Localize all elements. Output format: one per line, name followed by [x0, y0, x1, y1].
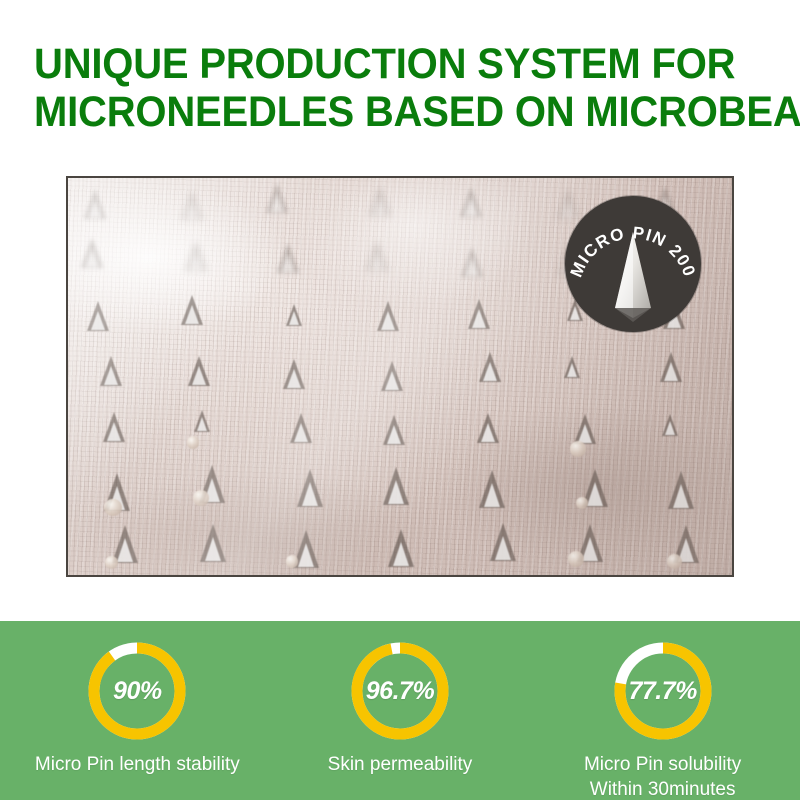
- stats-bar: 90%Micro Pin length stability96.7%Skin p…: [0, 621, 800, 800]
- badge-graphic: MICRO PIN 200: [565, 196, 701, 332]
- donut-value-text: 90%: [85, 639, 189, 743]
- donut-gauge: 90%: [85, 639, 189, 743]
- page-title: UNIQUE PRODUCTION SYSTEM FOR MICRONEEDLE…: [0, 40, 800, 136]
- stat-item: 77.7%Micro Pin solubility Within 30minut…: [535, 621, 791, 800]
- infographic-page: UNIQUE PRODUCTION SYSTEM FOR MICRONEEDLE…: [0, 0, 800, 800]
- donut-gauge: 96.7%: [348, 639, 452, 743]
- stat-label: Micro Pin solubility Within 30minutes: [584, 752, 741, 800]
- donut-gauge: 77.7%: [611, 639, 715, 743]
- micro-pin-badge: MICRO PIN 200: [565, 196, 701, 332]
- title-line-1: UNIQUE PRODUCTION SYSTEM FOR: [34, 40, 715, 88]
- stats-row: 90%Micro Pin length stability96.7%Skin p…: [0, 621, 800, 800]
- stat-item: 96.7%Skin permeability: [272, 621, 528, 777]
- title-line-2: MICRONEEDLES BASED ON MICROBEADS: [34, 88, 715, 136]
- stat-item: 90%Micro Pin length stability: [9, 621, 265, 777]
- donut-value-text: 77.7%: [611, 639, 715, 743]
- stat-label: Micro Pin length stability: [35, 752, 240, 777]
- stat-label: Skin permeability: [328, 752, 473, 777]
- donut-value-text: 96.7%: [348, 639, 452, 743]
